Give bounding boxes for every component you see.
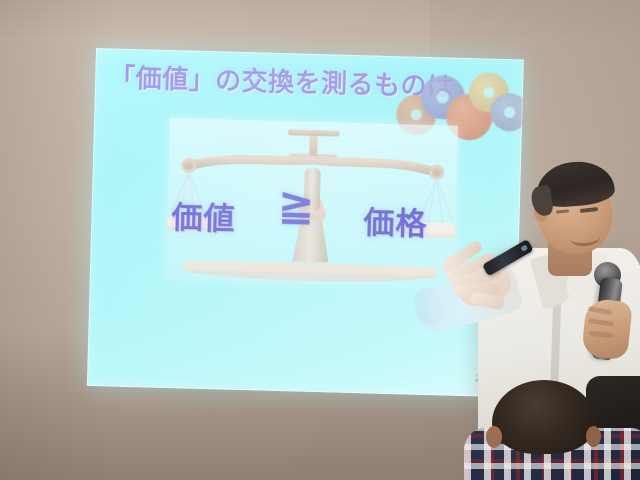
slide-operator: ≧ — [277, 183, 315, 228]
slide-title: 「価値」の交換を測るものは — [109, 64, 440, 103]
audience-head — [492, 380, 596, 454]
audience-ear-right — [586, 426, 601, 447]
slide-label-value: 価値 — [171, 192, 236, 239]
audience-member — [470, 386, 640, 480]
audience-ear-left — [486, 426, 502, 448]
coin-icon — [490, 93, 524, 132]
presentation-photo: 「価値」の交換を測るものは — [0, 0, 640, 480]
